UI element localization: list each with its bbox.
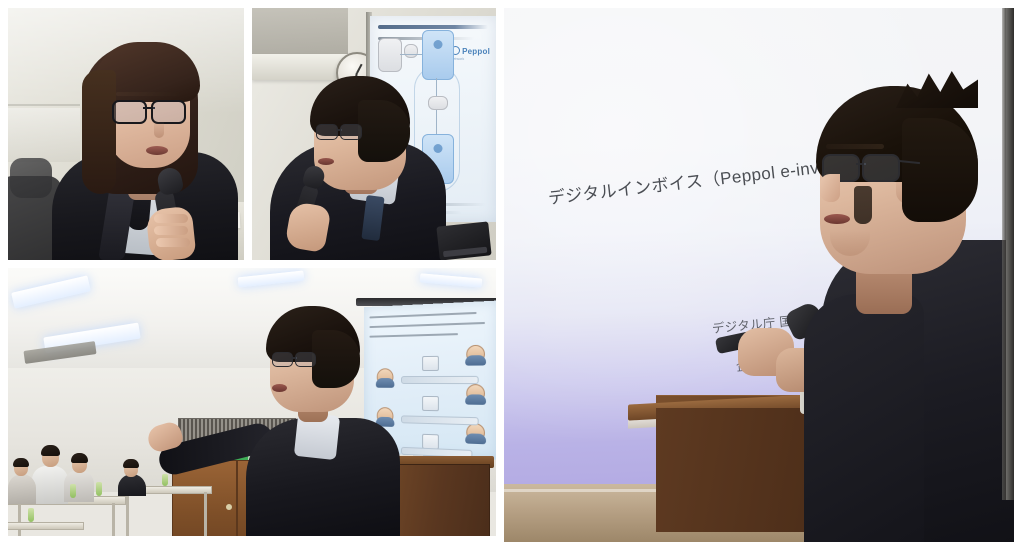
podium xyxy=(392,464,490,536)
audience-hair xyxy=(71,453,88,463)
woman-nose xyxy=(154,120,164,138)
beverage-bottle xyxy=(28,508,34,522)
woman-finger xyxy=(154,214,188,223)
glasses-lens-right xyxy=(340,124,362,140)
woman-mouth xyxy=(146,146,168,155)
diagram-label-chip xyxy=(428,96,448,110)
speaker-shoulder xyxy=(804,294,924,542)
glasses-lens-left xyxy=(112,100,147,124)
flow-bar xyxy=(401,415,479,425)
table-leg xyxy=(112,503,115,536)
table-leg xyxy=(126,492,129,536)
peppol-tagline: network xyxy=(451,57,490,61)
laptop xyxy=(436,221,491,260)
presenter-mouth xyxy=(272,384,287,392)
photo-collage: Peppol network xyxy=(0,0,1024,550)
diagram-box xyxy=(422,396,439,411)
beverage-bottle xyxy=(162,474,168,486)
woman-finger xyxy=(156,238,190,247)
speaker-sideburn xyxy=(854,186,872,224)
man-glasses xyxy=(316,124,362,138)
speaker-nose xyxy=(820,174,840,202)
presenter-glasses xyxy=(272,352,316,365)
glasses-lens-right xyxy=(862,154,900,182)
diagram-node-access-point xyxy=(422,30,454,80)
woman-eyebrow xyxy=(116,92,180,96)
woman-glasses xyxy=(112,100,186,120)
ceiling-shadow xyxy=(252,8,348,56)
audience-torso xyxy=(118,474,146,496)
slide-text-line xyxy=(369,333,458,338)
man-hair-side xyxy=(358,100,410,162)
avatar-icon xyxy=(466,384,485,403)
slide-text-line xyxy=(369,322,485,328)
audience-torso xyxy=(64,470,94,502)
audience-hair xyxy=(13,458,29,467)
diagram-node-sender xyxy=(378,38,402,72)
speaker-eyebrow xyxy=(826,144,884,149)
glasses-lens-left xyxy=(272,352,293,367)
slide-text-line xyxy=(369,312,476,319)
presenter-hair-side xyxy=(312,330,360,388)
wall-panel xyxy=(8,108,80,162)
slide-title-line xyxy=(378,25,488,29)
woman-finger xyxy=(154,226,188,235)
table-leg xyxy=(204,492,207,536)
woman-hair-side xyxy=(82,70,116,194)
glasses-lens-left xyxy=(316,124,338,140)
audience-hair xyxy=(41,445,60,456)
node-dot-icon xyxy=(434,144,443,153)
photo-panel-right: デジタルインボイス（Peppol e-invoice）について デジタル庁 国民… xyxy=(504,8,1014,542)
avatar-icon xyxy=(466,345,485,364)
avatar-icon xyxy=(377,368,394,386)
diagram-label-chip xyxy=(404,44,418,58)
photo-panel-top-middle: Peppol network xyxy=(252,8,496,260)
photo-panel-top-left xyxy=(8,8,244,260)
speaker-mouth xyxy=(824,214,850,224)
audience-torso xyxy=(8,474,36,504)
screen-frame-edge xyxy=(1006,8,1014,500)
speaker-hair-side xyxy=(902,118,978,222)
clock-hour-hand xyxy=(356,64,362,74)
diagram-box xyxy=(422,356,439,371)
peppol-logo: Peppol network xyxy=(451,46,490,61)
flow-bar xyxy=(401,376,479,384)
beverage-bottle xyxy=(96,482,102,496)
man-mouth xyxy=(318,158,334,165)
table-leg xyxy=(18,503,21,536)
photo-panel-bottom-left xyxy=(8,268,496,536)
audience-hair xyxy=(123,459,139,468)
glasses-lens-right xyxy=(295,352,316,367)
audience-torso xyxy=(32,466,68,504)
audience-table xyxy=(8,522,84,530)
beverage-bottle xyxy=(70,484,76,498)
wall-trim xyxy=(8,104,80,106)
node-dot-icon xyxy=(434,40,443,49)
diagram-arrow xyxy=(400,54,422,55)
avatar-icon xyxy=(377,407,394,425)
door-handle xyxy=(226,504,232,510)
avatar-icon xyxy=(466,423,485,442)
peppol-wordmark: Peppol xyxy=(462,47,490,56)
